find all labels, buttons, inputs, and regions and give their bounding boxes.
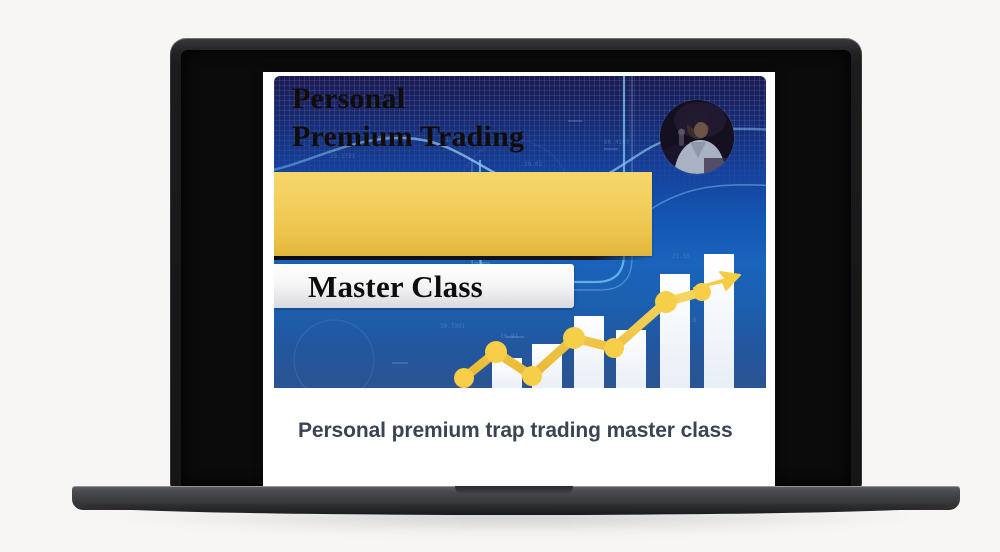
thumbnail-title-line-1: Personal Premium Trading [292, 80, 644, 156]
laptop-lid: 23.1721 41.0934 39.02 66.4103 18.77604 5… [170, 38, 862, 488]
svg-text:10.7301: 10.7301 [440, 323, 466, 330]
course-card-title[interactable]: Personal premium trap trading master cla… [274, 392, 768, 447]
course-card[interactable]: 23.1721 41.0934 39.02 66.4103 18.77604 5… [263, 72, 775, 486]
laptop-base-notch [455, 486, 573, 495]
page-stage: 23.1721 41.0934 39.02 66.4103 18.77604 5… [0, 0, 1000, 552]
svg-text:39.02: 39.02 [524, 161, 542, 168]
instructor-avatar-icon [660, 100, 734, 174]
laptop-screen: 23.1721 41.0934 39.02 66.4103 18.77604 5… [181, 50, 851, 486]
thumbnail-title-line-2: Master Class [308, 268, 483, 306]
course-thumbnail[interactable]: 23.1721 41.0934 39.02 66.4103 18.77604 5… [274, 76, 766, 388]
title-banner-gold [274, 172, 652, 256]
laptop-mockup: 23.1721 41.0934 39.02 66.4103 18.77604 5… [0, 0, 1000, 552]
instructor-photo [660, 100, 734, 174]
svg-text:21.55: 21.55 [672, 253, 690, 260]
laptop-drop-shadow [120, 512, 910, 534]
title-divider-rule [274, 256, 646, 260]
